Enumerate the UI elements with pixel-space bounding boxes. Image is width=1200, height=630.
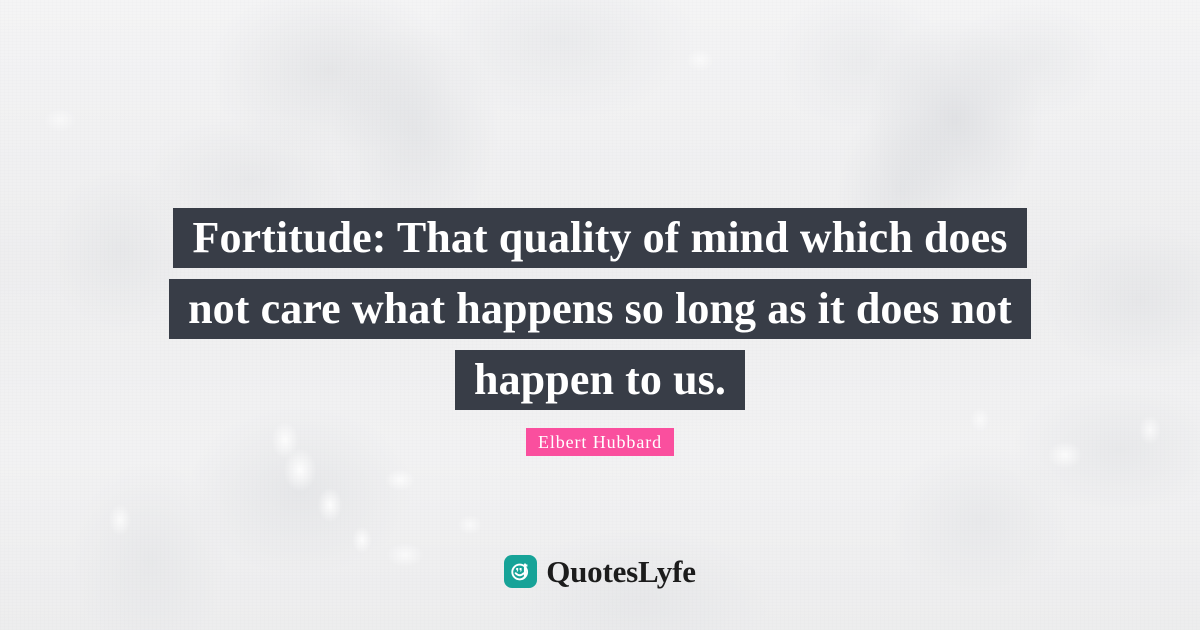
author-attribution: Elbert Hubbard: [0, 428, 1200, 456]
author-name: Elbert Hubbard: [526, 428, 674, 456]
quote-line: happen to us.: [0, 350, 1200, 410]
quote-block: Fortitude: That quality of mind which do…: [0, 208, 1200, 410]
brand-watermark: QuotesLyfe: [0, 555, 1200, 588]
quoteslyfe-smiley-quote-logo-icon: [504, 555, 537, 588]
quote-line: Fortitude: That quality of mind which do…: [0, 208, 1200, 268]
brand-name: QuotesLyfe: [546, 555, 696, 588]
quote-line-text: Fortitude: That quality of mind which do…: [173, 208, 1026, 268]
quote-line-text: happen to us.: [455, 350, 745, 410]
quote-card: Fortitude: That quality of mind which do…: [0, 0, 1200, 630]
quote-line: not care what happens so long as it does…: [0, 279, 1200, 339]
quote-line-text: not care what happens so long as it does…: [169, 279, 1031, 339]
